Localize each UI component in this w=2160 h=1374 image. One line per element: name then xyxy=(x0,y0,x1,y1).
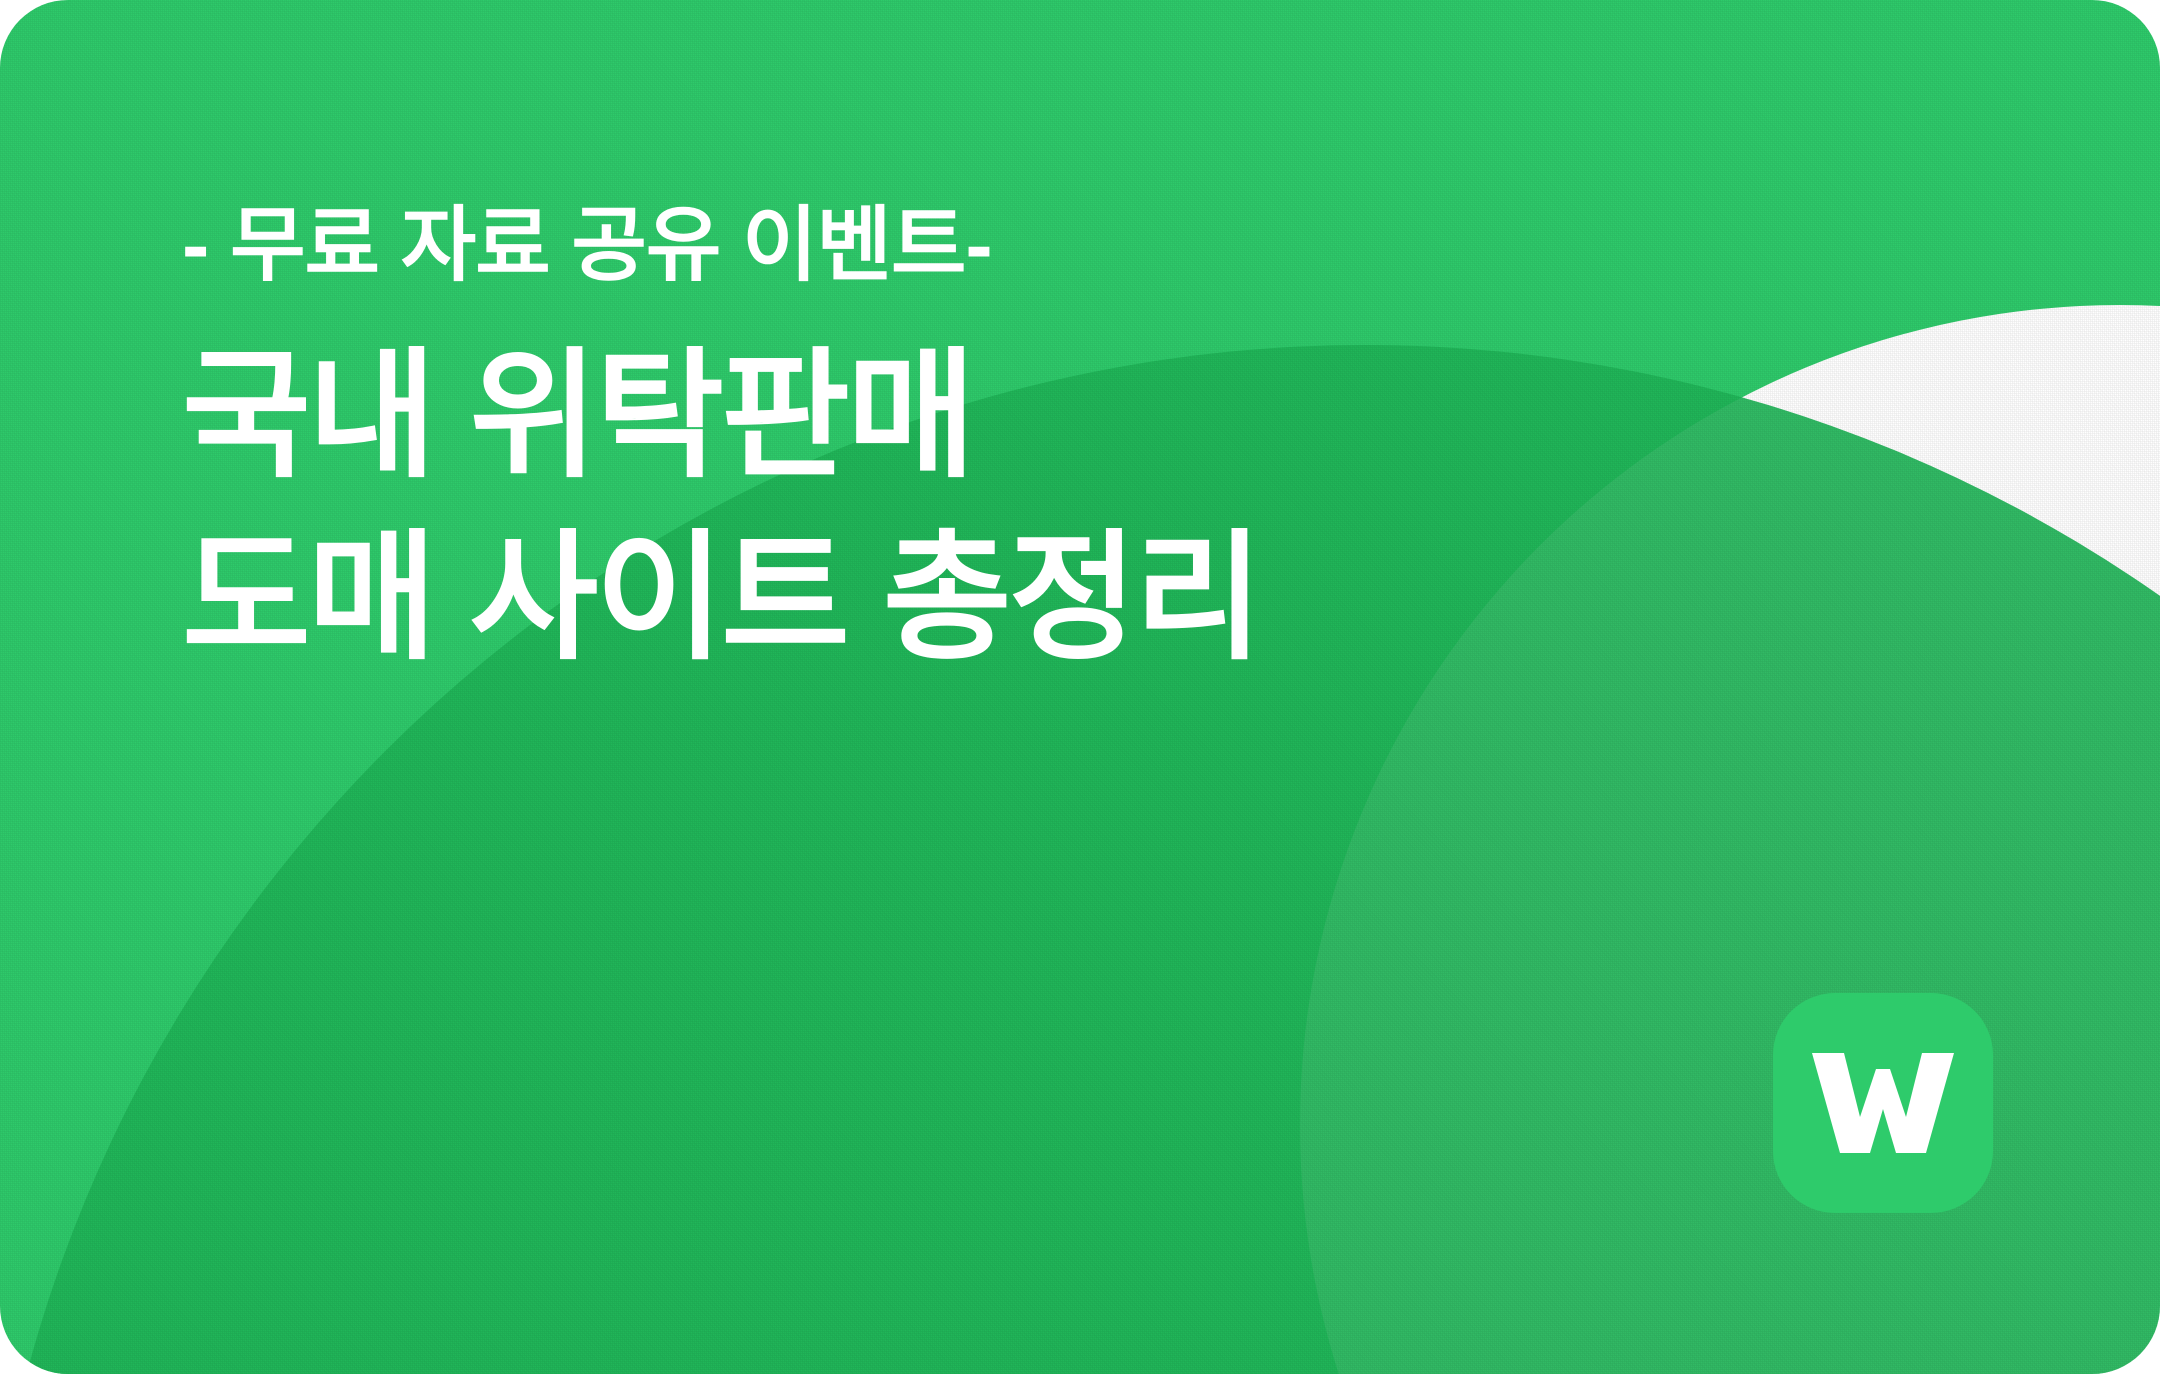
card-surface: - 무료 자료 공유 이벤트- 국내 위탁판매 도매 사이트 총정리 xyxy=(0,0,2160,1374)
banner-copy-block: - 무료 자료 공유 이벤트- 국내 위탁판매 도매 사이트 총정리 xyxy=(182,205,1260,689)
banner-eyebrow: - 무료 자료 공유 이벤트- xyxy=(182,205,1260,287)
promo-banner-card: - 무료 자료 공유 이벤트- 국내 위탁판매 도매 사이트 총정리 xyxy=(0,0,2160,1374)
w-letter-icon xyxy=(1808,1047,1958,1159)
brand-logo[interactable] xyxy=(1773,993,1993,1213)
banner-headline-line-2: 도매 사이트 총정리 xyxy=(182,507,1260,689)
banner-headline-line-1: 국내 위탁판매 xyxy=(182,325,1260,507)
